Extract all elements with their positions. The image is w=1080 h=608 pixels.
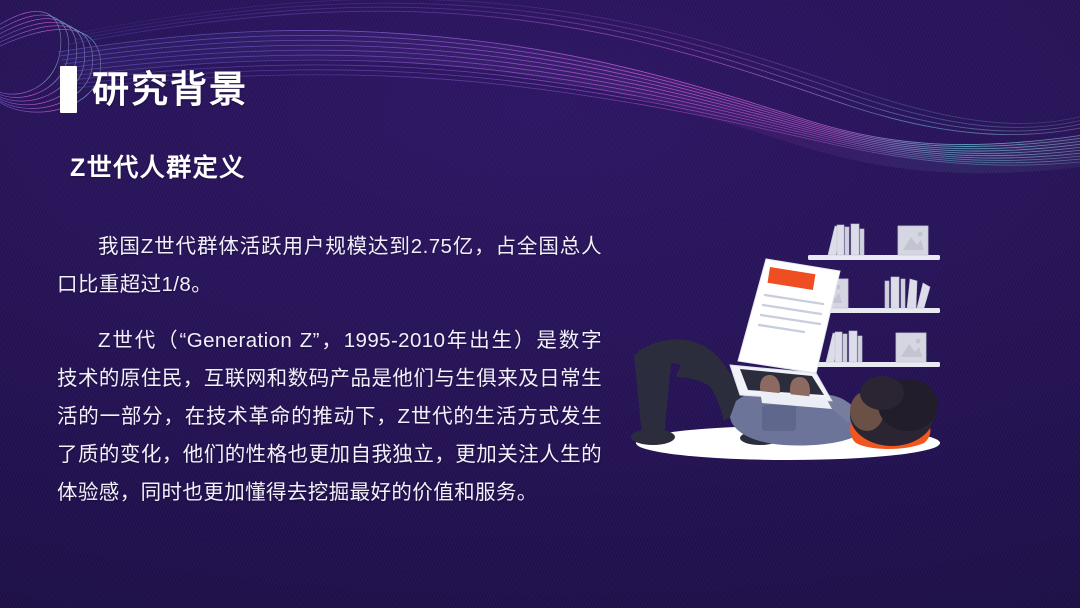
paragraph-2: Z世代（“Generation Z”，1995-2010年出生）是数字技术的原住… <box>57 322 602 512</box>
section-subtitle: Z世代人群定义 <box>70 156 246 181</box>
paragraph-1: 我国Z世代群体活跃用户规模达到2.75亿，占全国总人口比重超过1/8。 <box>57 228 602 304</box>
laptop <box>730 259 840 409</box>
title-marker-bar <box>60 66 77 113</box>
page-title: 研究背景 <box>60 66 248 113</box>
body-copy: 我国Z世代群体活跃用户规模达到2.75亿，占全国总人口比重超过1/8。 Z世代（… <box>57 228 602 512</box>
illustration <box>620 205 1020 470</box>
slide: 研究背景 Z世代人群定义 我国Z世代群体活跃用户规模达到2.75亿，占全国总人口… <box>0 0 1080 608</box>
title-text: 研究背景 <box>92 71 248 108</box>
